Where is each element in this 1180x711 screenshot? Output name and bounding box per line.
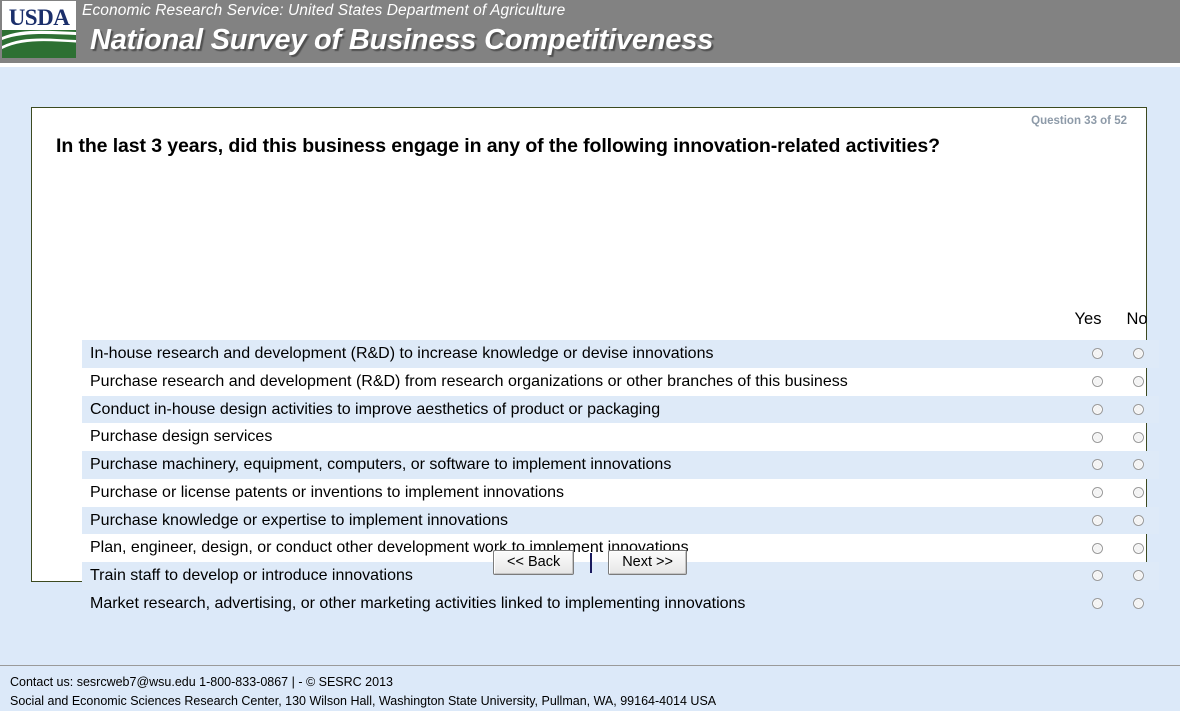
- radio-cell-yes[interactable]: [1077, 598, 1118, 609]
- radio-cell-no[interactable]: [1118, 404, 1159, 415]
- column-header-no: No: [1117, 310, 1157, 329]
- row-label: Purchase knowledge or expertise to imple…: [82, 507, 1077, 535]
- radio-cell-no[interactable]: [1118, 348, 1159, 359]
- row-label: Purchase machinery, equipment, computers…: [82, 451, 1077, 479]
- radio-yes-9[interactable]: [1092, 598, 1103, 609]
- radio-cell-yes[interactable]: [1077, 487, 1118, 498]
- radio-cell-no[interactable]: [1118, 376, 1159, 387]
- table-row: Purchase design services: [82, 423, 1159, 451]
- question-counter: Question 33 of 52: [1031, 115, 1127, 127]
- radio-cell-no[interactable]: [1118, 459, 1159, 470]
- radio-cell-yes[interactable]: [1077, 404, 1118, 415]
- question-text: In the last 3 years, did this business e…: [56, 134, 1086, 160]
- radio-cell-no[interactable]: [1118, 432, 1159, 443]
- back-button[interactable]: << Back: [493, 550, 574, 575]
- response-grid: In-house research and development (R&D) …: [82, 340, 1159, 618]
- table-row: Market research, advertising, or other m…: [82, 590, 1159, 618]
- radio-cell-yes[interactable]: [1077, 432, 1118, 443]
- nav-separator: [590, 553, 592, 573]
- survey-title: National Survey of Business Competitiven…: [90, 24, 713, 57]
- radio-no-6[interactable]: [1133, 515, 1144, 526]
- radio-no-4[interactable]: [1133, 459, 1144, 470]
- row-label: In-house research and development (R&D) …: [82, 340, 1077, 368]
- table-row: Purchase machinery, equipment, computers…: [82, 451, 1159, 479]
- radio-cell-yes[interactable]: [1077, 376, 1118, 387]
- radio-no-3[interactable]: [1133, 432, 1144, 443]
- table-row: Purchase or license patents or invention…: [82, 479, 1159, 507]
- radio-cell-no[interactable]: [1118, 598, 1159, 609]
- radio-no-1[interactable]: [1133, 376, 1144, 387]
- navigation-bar: << Back Next >>: [32, 550, 1148, 575]
- radio-yes-5[interactable]: [1092, 487, 1103, 498]
- radio-yes-1[interactable]: [1092, 376, 1103, 387]
- radio-yes-0[interactable]: [1092, 348, 1103, 359]
- radio-no-2[interactable]: [1133, 404, 1144, 415]
- row-label: Conduct in-house design activities to im…: [82, 396, 1077, 424]
- row-label: Purchase or license patents or invention…: [82, 479, 1077, 507]
- svg-text:USDA: USDA: [9, 5, 71, 30]
- radio-cell-no[interactable]: [1118, 487, 1159, 498]
- footer-contact-line: Contact us: sesrcweb7@wsu.edu 1-800-833-…: [10, 673, 716, 692]
- footer-divider: [0, 665, 1180, 666]
- column-header-yes: Yes: [1068, 310, 1108, 329]
- row-label: Purchase research and development (R&D) …: [82, 368, 1077, 396]
- header-divider: [0, 63, 1180, 67]
- footer-address-line: Social and Economic Sciences Research Ce…: [10, 692, 716, 711]
- row-label: Market research, advertising, or other m…: [82, 590, 1077, 618]
- radio-cell-yes[interactable]: [1077, 459, 1118, 470]
- row-label: Purchase design services: [82, 423, 1077, 451]
- radio-no-0[interactable]: [1133, 348, 1144, 359]
- table-row: Purchase knowledge or expertise to imple…: [82, 507, 1159, 535]
- radio-no-9[interactable]: [1133, 598, 1144, 609]
- radio-yes-6[interactable]: [1092, 515, 1103, 526]
- radio-yes-3[interactable]: [1092, 432, 1103, 443]
- radio-yes-2[interactable]: [1092, 404, 1103, 415]
- question-panel: Question 33 of 52 In the last 3 years, d…: [31, 107, 1147, 582]
- table-row: Purchase research and development (R&D) …: [82, 368, 1159, 396]
- agency-line: Economic Research Service: United States…: [82, 2, 565, 20]
- next-button[interactable]: Next >>: [608, 550, 687, 575]
- radio-yes-4[interactable]: [1092, 459, 1103, 470]
- radio-no-5[interactable]: [1133, 487, 1144, 498]
- site-header: USDA Economic Research Service: United S…: [0, 0, 1180, 63]
- table-row: In-house research and development (R&D) …: [82, 340, 1159, 368]
- radio-cell-yes[interactable]: [1077, 348, 1118, 359]
- site-footer: Contact us: sesrcweb7@wsu.edu 1-800-833-…: [10, 673, 716, 711]
- radio-cell-yes[interactable]: [1077, 515, 1118, 526]
- radio-cell-no[interactable]: [1118, 515, 1159, 526]
- table-row: Conduct in-house design activities to im…: [82, 396, 1159, 424]
- usda-logo: USDA: [2, 1, 76, 58]
